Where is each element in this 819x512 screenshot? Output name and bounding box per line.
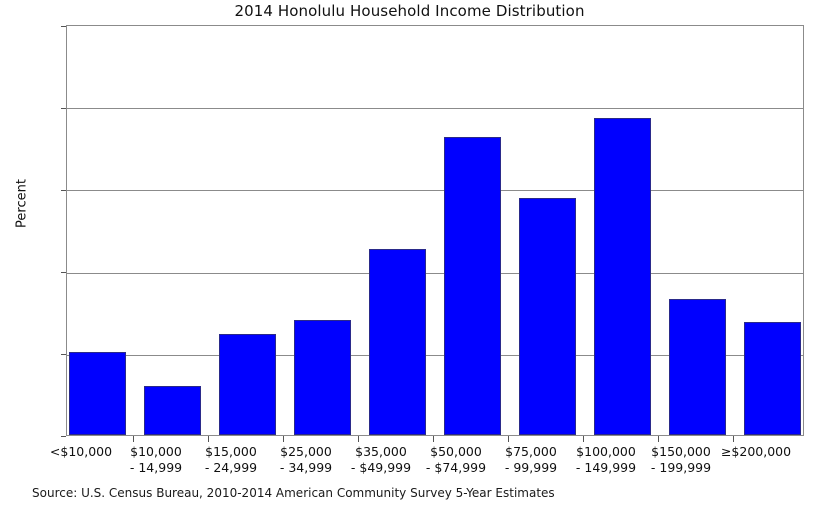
chart-figure: 2014 Honolulu Household Income Distribut… [0,0,819,512]
chart-title: 2014 Honolulu Household Income Distribut… [0,2,819,20]
gridline-20 [67,108,803,109]
xtick-mark-9 [733,436,734,442]
ytick-mark-20 [61,108,66,109]
ytick-mark-15 [61,190,66,191]
xtick-mark-1 [133,436,134,442]
y-axis-label: Percent [15,164,30,244]
gridline-10 [67,273,803,274]
ytick-mark-25 [61,26,66,27]
xtick-mark-6 [508,436,509,442]
ytick-mark-10 [61,272,66,273]
plot-area [66,25,804,436]
bar-3 [294,320,351,435]
xtick-mark-3 [283,436,284,442]
xtick-mark-2 [208,436,209,442]
bar-9 [744,322,801,435]
xtick-mark-4 [358,436,359,442]
bar-5 [444,137,501,435]
xtick-label-9-line1: ≥$200,000 [721,444,791,459]
bar-6 [519,198,576,435]
xtick-mark-7 [583,436,584,442]
xtick-label-9: ≥$200,000 [696,444,816,460]
xtick-mark-8 [658,436,659,442]
bar-0 [69,352,126,435]
ytick-mark-5 [61,354,66,355]
gridline-15 [67,190,803,191]
bar-7 [594,118,651,435]
source-note: Source: U.S. Census Bureau, 2010-2014 Am… [32,486,555,500]
bar-4 [369,249,426,436]
bar-8 [669,299,726,435]
xtick-mark-5 [433,436,434,442]
ytick-mark-0 [61,436,66,437]
xtick-label-8-line2: - 199,999 [621,460,741,476]
bar-1 [144,386,201,435]
bar-2 [219,334,276,435]
